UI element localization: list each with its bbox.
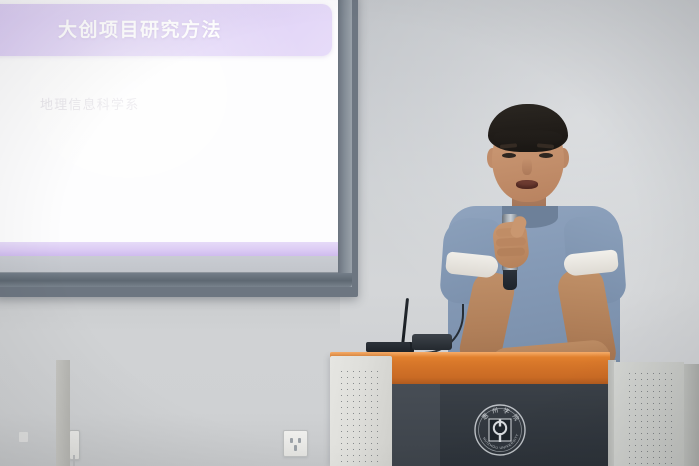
right-speaker-far-side: [684, 364, 699, 466]
microphone-base: [503, 270, 517, 290]
projection-screen: 大创项目研究方法 地理信息科学系: [0, 0, 358, 297]
finger: [496, 237, 526, 247]
wall-fitting: [19, 432, 28, 442]
desktop-device-secondary[interactable]: [366, 342, 410, 352]
presentation-photo-scene: 大创项目研究方法 地理信息科学系: [0, 0, 699, 466]
eye-right: [539, 153, 553, 158]
microphone-head: [501, 192, 519, 218]
speaker-grille: [628, 372, 674, 466]
slide-title: 大创项目研究方法: [58, 15, 222, 42]
left-loudspeaker: [330, 356, 392, 466]
outlet-pin: [294, 445, 297, 451]
speaker-grille: [340, 370, 382, 464]
left-speaker-side: [56, 360, 70, 466]
university-emblem: 惠 州 学 院 HUIZHOU UNIVERSITY: [472, 402, 528, 458]
presenter: [440, 96, 640, 386]
wall-power-outlet[interactable]: [283, 430, 308, 457]
nose: [522, 158, 532, 175]
desktop-device[interactable]: [412, 334, 452, 350]
mouth: [516, 180, 538, 189]
slide-subtitle: 地理信息科学系: [40, 94, 139, 113]
outlet-pin: [290, 438, 293, 443]
right-loudspeaker: [614, 362, 684, 466]
outlet-pin: [298, 438, 301, 443]
slide-surface: 大创项目研究方法 地理信息科学系: [0, 0, 338, 272]
slide-footer-shadow: [0, 256, 338, 272]
finger: [497, 248, 525, 257]
screen-frame-right: [338, 0, 352, 287]
slide-footer-band: [0, 242, 338, 256]
eye-left: [502, 153, 516, 158]
screen-frame-bottom: [0, 273, 352, 287]
screen-frame-inner: 大创项目研究方法 地理信息科学系: [0, 0, 346, 285]
wall-cable: [73, 455, 75, 466]
